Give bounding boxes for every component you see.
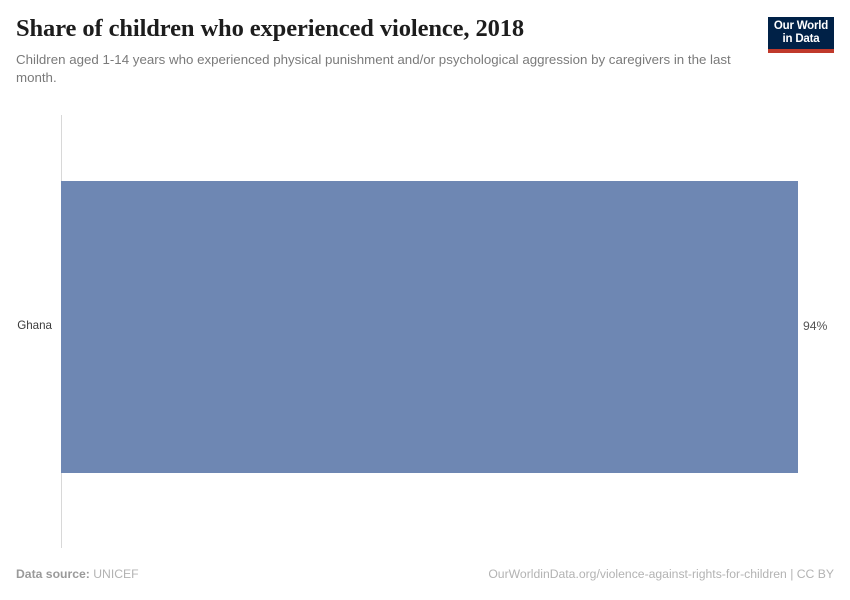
bar-value-label-ghana: 94% xyxy=(803,319,827,333)
data-source: Data source: UNICEF xyxy=(16,567,139,581)
data-source-label: Data source: xyxy=(16,567,90,581)
chart-footer: Data source: UNICEF OurWorldinData.org/v… xyxy=(0,562,850,600)
y-axis-line xyxy=(61,115,62,548)
chart-header: Share of children who experienced violen… xyxy=(16,14,756,86)
owid-logo-line-1: Our World xyxy=(774,20,828,33)
owid-logo-line-2: in Data xyxy=(783,33,820,46)
data-source-value: UNICEF xyxy=(93,567,138,581)
bar-ghana[interactable] xyxy=(61,181,798,473)
chart-subtitle: Children aged 1-14 years who experienced… xyxy=(16,51,746,86)
chart-page: Share of children who experienced violen… xyxy=(0,0,850,600)
owid-logo[interactable]: Our World in Data xyxy=(768,17,834,53)
bar-category-label-ghana: Ghana xyxy=(17,319,61,332)
plot-area: Ghana 94% xyxy=(0,0,850,600)
page-title: Share of children who experienced violen… xyxy=(16,14,756,44)
attribution-link[interactable]: OurWorldinData.org/violence-against-righ… xyxy=(488,567,834,581)
